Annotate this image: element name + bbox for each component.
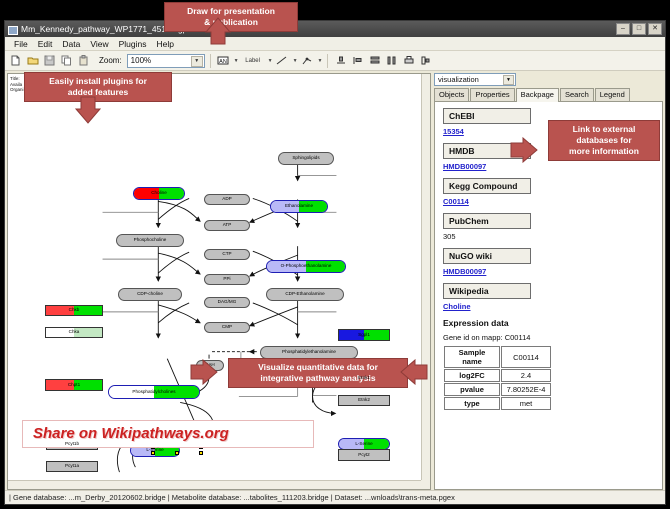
copy-icon[interactable]: [59, 53, 74, 68]
expr-value: 7.80252E-4: [501, 383, 551, 396]
table-row: log2FC2.4: [444, 369, 551, 382]
pathvisio-icon: [8, 25, 17, 34]
close-button[interactable]: ✕: [648, 23, 662, 35]
zoom-value: 100%: [131, 56, 151, 65]
callout-line: more information: [555, 146, 653, 157]
node-label: CTP: [222, 252, 231, 257]
node-label: Phosphatidylcholines: [109, 390, 199, 395]
metabolite-node-ppi[interactable]: PPi: [204, 274, 250, 285]
align-top-icon[interactable]: [333, 53, 348, 68]
gene-node-chka[interactable]: Chka: [45, 327, 103, 338]
table-row: pvalue7.80252E-4: [444, 383, 551, 396]
gene-node-pcyt1a[interactable]: Pcyt1a: [46, 461, 98, 472]
tab-legend[interactable]: Legend: [595, 88, 630, 101]
callout-draw: Draw for presentation& publication: [164, 2, 298, 32]
tab-search[interactable]: Search: [560, 88, 594, 101]
interaction-icon[interactable]: [300, 53, 315, 68]
menu-file[interactable]: File: [9, 39, 33, 49]
chevron-down-icon[interactable]: ▼: [234, 58, 239, 64]
callout-visualize: Visualize quantitative data forintegrati…: [228, 358, 408, 388]
metabolite-node-ctp[interactable]: CTP: [204, 249, 250, 260]
visualization-combobox[interactable]: visualization ▼: [434, 73, 516, 86]
expr-key: pvalue: [444, 383, 500, 396]
node-label: CMP: [222, 325, 232, 330]
metabolite-node-cmp[interactable]: CMP: [204, 322, 250, 333]
gene-node-sgpl1[interactable]: Sgpl1: [338, 329, 390, 341]
node-label: Pcyt2: [339, 453, 389, 458]
expr-key: Sample name: [444, 346, 500, 368]
node-label: O-Phosphoethanolamine: [267, 264, 345, 269]
metabolite-node-cdpeth[interactable]: CDP-Ethanolamine: [266, 288, 344, 301]
table-row: typemet: [444, 397, 551, 410]
metabolite-node-cdpcholine[interactable]: CDP-choline: [118, 288, 182, 301]
expression-data-heading: Expression data: [443, 318, 656, 328]
chevron-down-icon[interactable]: ▼: [503, 75, 514, 85]
toolbar-separator: [327, 54, 328, 68]
node-label: Chpt1: [46, 383, 102, 388]
paste-icon[interactable]: [76, 53, 91, 68]
metabolite-node-ethanolamine[interactable]: Ethanolamine: [270, 200, 328, 213]
arrow-left-link: [509, 137, 539, 163]
canvas-vertical-scrollbar[interactable]: [421, 74, 430, 480]
arrow-left-visualize: [189, 359, 219, 385]
node-label: Etnk1: [339, 376, 389, 381]
tab-properties[interactable]: Properties: [470, 88, 514, 101]
metabolite-node-phosphocholine[interactable]: Phosphocholine: [116, 234, 184, 247]
chevron-down-icon[interactable]: ▼: [318, 58, 323, 64]
node-label: Pcyt1a: [47, 464, 97, 469]
callout-link: Link to externaldatabases formore inform…: [548, 120, 660, 161]
callout-line: databases for: [555, 135, 653, 146]
node-label: Chkb: [46, 308, 102, 313]
db-value-nugo-wiki[interactable]: HMDB00097: [443, 267, 656, 276]
node-label: L-Serine: [339, 442, 389, 447]
db-value-kegg-compound[interactable]: C00114: [443, 197, 656, 206]
node-label: Phosphocholine: [134, 238, 167, 243]
node-label: Choline: [134, 191, 184, 196]
scroll-corner: [421, 480, 430, 489]
expr-value: C00114: [501, 346, 551, 368]
menu-help[interactable]: Help: [152, 39, 179, 49]
metabolite-node-sphingolipids[interactable]: Sphingolipids: [278, 152, 334, 165]
node-label: Ethanolamine: [271, 204, 327, 209]
open-folder-icon[interactable]: [25, 53, 40, 68]
gene-node-chkb[interactable]: Chkb: [45, 305, 103, 316]
metabolite-node-ptdcholine[interactable]: Phosphatidylcholines: [108, 385, 200, 399]
table-row: Sample nameC00114: [444, 346, 551, 368]
expr-key: type: [444, 397, 500, 410]
node-label: Sphingolipids: [292, 156, 319, 161]
align-left-icon[interactable]: [350, 53, 365, 68]
db-title-kegg-compound: Kegg Compound: [443, 178, 531, 194]
db-title-pubchem: PubChem: [443, 213, 531, 229]
node-label: ADP: [222, 197, 231, 202]
expression-table: Sample nameC00114log2FC2.4pvalue7.80252E…: [443, 345, 552, 411]
svg-text:AN: AN: [219, 59, 227, 65]
canvas-horizontal-scrollbar[interactable]: [8, 480, 421, 489]
callout-line: Visualize quantitative data for: [235, 362, 401, 373]
callout-line: Draw for presentation: [171, 6, 291, 17]
group-icon[interactable]: [418, 53, 433, 68]
node-label: CDP-choline: [137, 292, 163, 297]
callout-share-text: Share on Wikipathways.org: [33, 425, 229, 442]
line-icon[interactable]: [275, 53, 290, 68]
db-value-hmdb[interactable]: HMDB00097: [443, 162, 656, 171]
datanode-icon[interactable]: AN: [216, 53, 231, 68]
metabolite-node-ophosphoeth[interactable]: O-Phosphoethanolamine: [266, 260, 346, 273]
node-label: Phosphatidylethanolamine: [282, 350, 336, 355]
node-label: Sgpl1: [339, 333, 389, 338]
menu-edit[interactable]: Edit: [33, 39, 58, 49]
metabolite-node-adp[interactable]: ADP: [204, 194, 250, 205]
callout-line: & publication: [171, 17, 291, 28]
tab-backpage[interactable]: Backpage: [516, 88, 559, 102]
print-icon[interactable]: [401, 53, 416, 68]
menu-view[interactable]: View: [85, 39, 113, 49]
node-label: ATP: [223, 223, 232, 228]
new-file-icon[interactable]: [8, 53, 23, 68]
node-label: Chka: [46, 330, 102, 335]
tab-objects[interactable]: Objects: [434, 88, 469, 101]
distribute-icon[interactable]: [384, 53, 399, 68]
callout-line: Easily install plugins for: [31, 76, 165, 87]
status-bar: | Gene database: ...m_Derby_20120602.bri…: [5, 490, 665, 504]
expr-value: met: [501, 397, 551, 410]
node-label: L-Serine: [131, 448, 179, 453]
stack-icon[interactable]: [367, 53, 382, 68]
status-text: | Gene database: ...m_Derby_20120602.bri…: [9, 493, 455, 502]
chevron-down-icon[interactable]: ▼: [293, 58, 298, 64]
arrow-up-plugins: [75, 95, 101, 125]
save-icon[interactable]: [42, 53, 57, 68]
sidebar-tabs: Objects Properties Backpage Search Legen…: [434, 89, 663, 102]
expr-key: log2FC: [444, 369, 500, 382]
db-title-wikipedia: Wikipedia: [443, 283, 531, 299]
node-label: Etnk2: [339, 398, 389, 403]
db-title-chebi: ChEBI: [443, 108, 531, 124]
toolbar: Zoom: 100% ▼ AN ▼ Label ▼ ▼ ▼: [5, 51, 665, 71]
node-label: CDP-Ethanolamine: [285, 292, 324, 297]
menu-plugins[interactable]: Plugins: [114, 39, 152, 49]
gene-node-chpt1[interactable]: Chpt1: [45, 379, 103, 391]
gene-id-line: Gene id on mapp: C00114: [443, 333, 656, 342]
db-value-pubchem: 305: [443, 232, 656, 241]
node-label: PPi: [223, 277, 230, 282]
node-label: DAG/MG: [218, 300, 237, 305]
db-title-nugo-wiki: NuGO wiki: [443, 248, 531, 264]
minimize-button[interactable]: –: [616, 23, 630, 35]
node-label: Pcyt1b: [47, 442, 97, 447]
metabolite-node-atp[interactable]: ATP: [204, 220, 250, 231]
chevron-down-icon[interactable]: ▼: [268, 58, 273, 64]
gene-node-pcyt2[interactable]: Pcyt2: [338, 449, 390, 461]
chevron-down-icon[interactable]: ▼: [191, 56, 203, 67]
zoom-combobox[interactable]: 100% ▼: [127, 54, 205, 68]
maximize-button[interactable]: □: [632, 23, 646, 35]
db-value-wikipedia[interactable]: Choline: [443, 302, 656, 311]
window-controls: – □ ✕: [616, 23, 662, 35]
zoom-label: Zoom:: [99, 56, 122, 65]
gene-node-etnk2[interactable]: Etnk2: [338, 395, 390, 406]
metabolite-node-dagmg[interactable]: DAG/MG: [204, 297, 250, 308]
selection-handle[interactable]: [199, 451, 203, 455]
toolbar-separator: [210, 54, 211, 68]
arrow-down-draw: [205, 16, 231, 46]
metabolite-node-choline_top[interactable]: Choline: [133, 187, 185, 200]
title-bar: Mm_Kennedy_pathway_WP1771_45176.gpml – □…: [5, 21, 665, 37]
menu-data[interactable]: Data: [57, 39, 85, 49]
arrow-right-visualize: [399, 359, 429, 385]
label-tool[interactable]: Label: [241, 53, 265, 68]
expr-value: 2.4: [501, 369, 551, 382]
callout-line: Link to external: [555, 124, 653, 135]
menu-bar: File Edit Data View Plugins Help: [5, 37, 665, 51]
visualization-value: visualization: [438, 75, 479, 84]
